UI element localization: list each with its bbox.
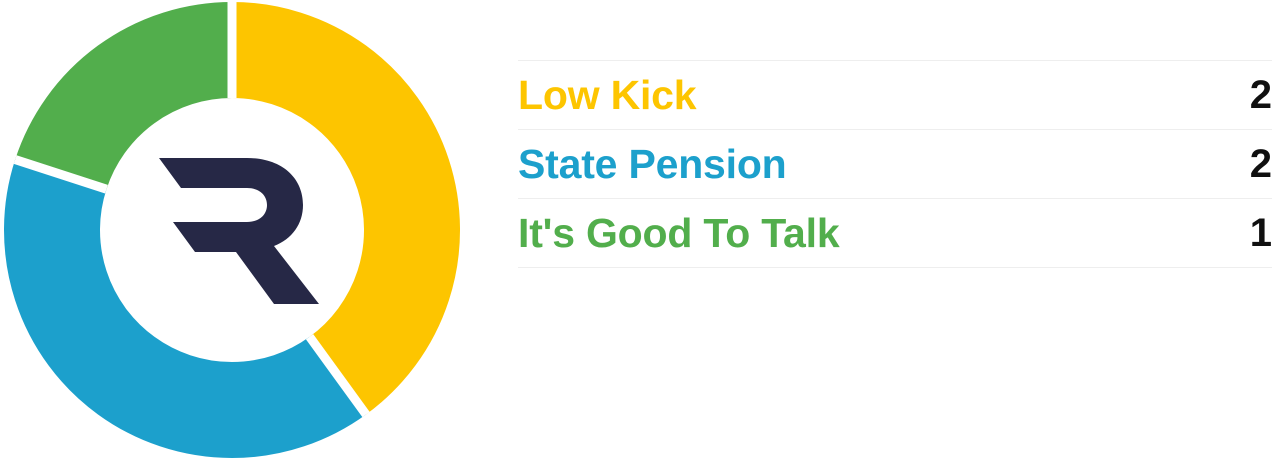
brand-r-logo-icon — [143, 152, 323, 308]
donut-chart — [0, 0, 470, 460]
legend-value-state-pension: 2 — [1182, 130, 1272, 199]
legend-body: Low Kick 2 State Pension 2 It's Good To … — [518, 61, 1272, 268]
legend-row-its-good-to-talk[interactable]: It's Good To Talk 1 — [518, 199, 1272, 268]
legend-label-state-pension: State Pension — [518, 130, 1182, 199]
legend-label-its-good-to-talk: It's Good To Talk — [518, 199, 1182, 268]
legend-row-state-pension[interactable]: State Pension 2 — [518, 130, 1272, 199]
legend-label-low-kick: Low Kick — [518, 61, 1182, 130]
legend-table: Low Kick 2 State Pension 2 It's Good To … — [518, 60, 1272, 268]
legend-value-low-kick: 2 — [1182, 61, 1272, 130]
donut-chart-widget: Low Kick 2 State Pension 2 It's Good To … — [0, 0, 1280, 460]
legend-row-low-kick[interactable]: Low Kick 2 — [518, 61, 1272, 130]
legend-value-its-good-to-talk: 1 — [1182, 199, 1272, 268]
